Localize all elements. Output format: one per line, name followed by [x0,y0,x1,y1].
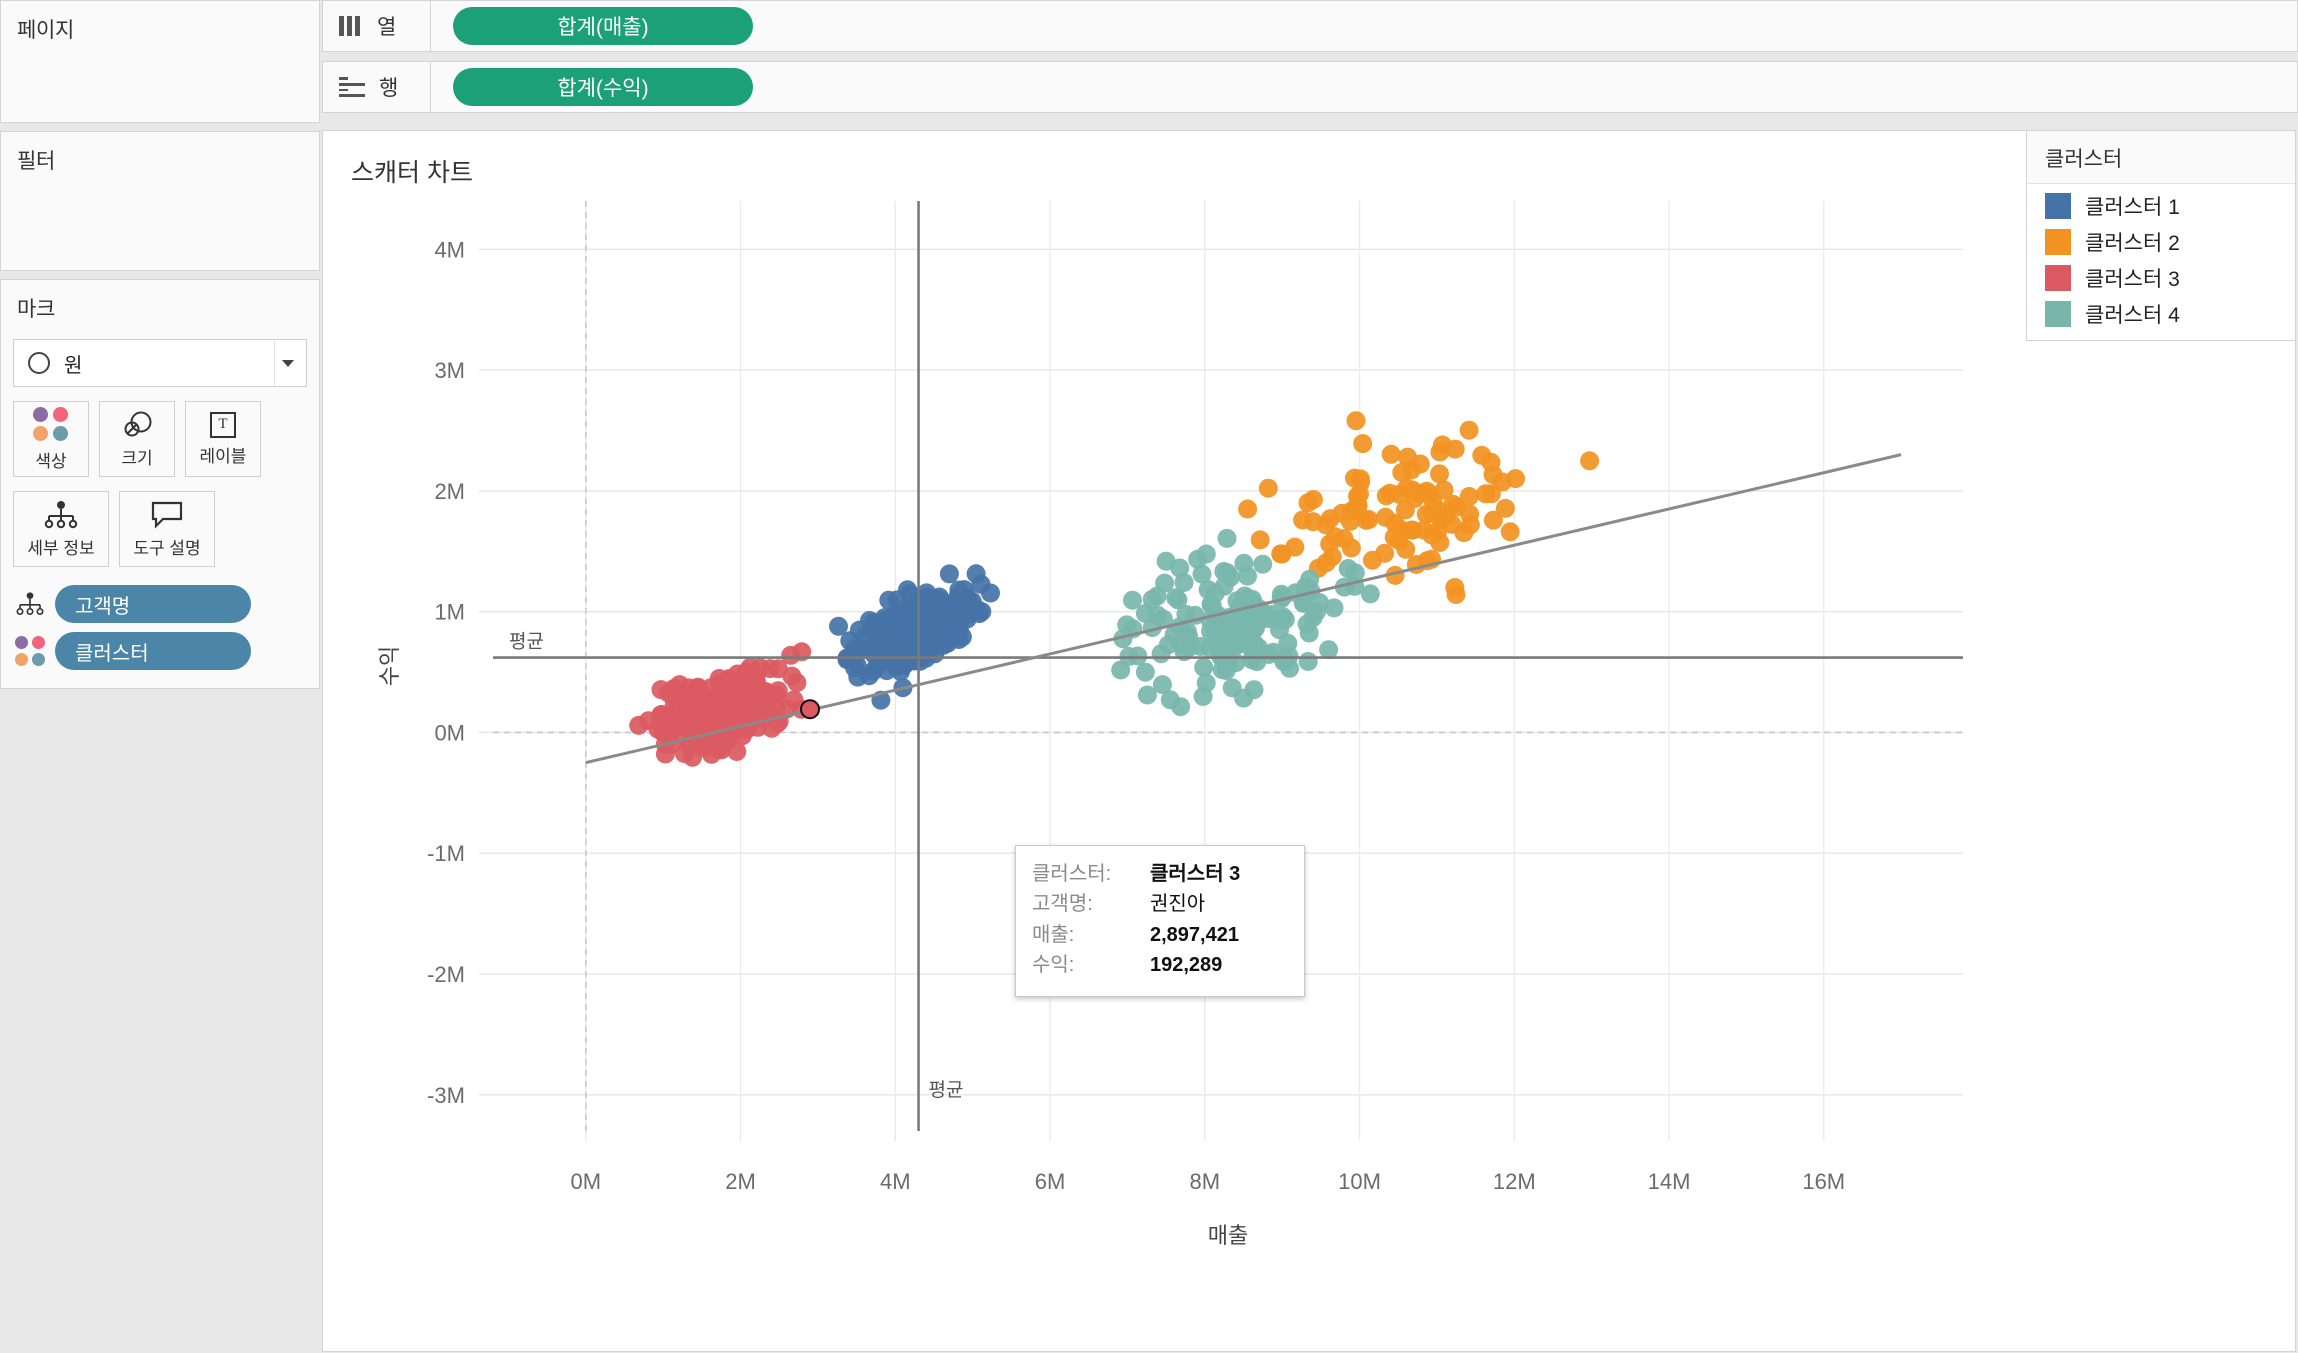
y-axis-tick-label: 1M [434,600,465,625]
marks-button-grid-row2: 세부 정보 도구 설명 [13,491,307,567]
tableau-worksheet: 페이지 필터 마크 원 색상 [0,0,2298,1352]
pill-sum-profit[interactable]: 합계(수익) [453,68,753,106]
x-axis-tick-label: 12M [1493,1169,1536,1194]
tooltip-button-label: 도구 설명 [133,534,200,559]
legend-swatch [2045,301,2071,327]
tooltip-row: 수익: 192,289 [1032,950,1288,980]
tooltip-value: 192,289 [1150,950,1222,980]
scatter-marks[interactable] [629,411,1599,767]
marks-card-title: 마크 [1,280,319,323]
legend-item-label: 클러스터 2 [2085,227,2180,257]
y-axis-tick-label: 0M [434,720,465,745]
legend-item[interactable]: 클러스터 4 [2027,296,2295,332]
legend-item[interactable]: 클러스터 1 [2027,188,2295,224]
pages-card: 페이지 [0,0,320,123]
x-axis-tick-label: 8M [1190,1169,1221,1194]
pages-card-title: 페이지 [1,1,319,44]
x-axis-tick-label: 2M [725,1169,756,1194]
detail-icon [43,500,79,530]
size-button-label: 크기 [121,444,152,469]
y-axis-tick-label: 2M [434,479,465,504]
highlighted-mark[interactable] [801,700,819,718]
worksheet-view: 스캐터 차트 4M3M2M1M0M-1M-2M-3M0M2M4M6M8M10M1… [322,130,2296,1352]
tooltip-row: 고객명: 권진아 [1032,889,1288,919]
filters-card-title: 필터 [1,132,319,175]
detail-button-label: 세부 정보 [27,534,94,559]
legend-item-label: 클러스터 1 [2085,191,2180,221]
mark-type-label: 원 [64,349,82,378]
tooltip-key: 클러스터: [1032,859,1150,889]
marks-pill-label-customer[interactable]: 고객명 [55,585,251,623]
tooltip-value: 2,897,421 [1150,920,1239,950]
legend-swatch [2045,193,2071,219]
label-button-label: 레이블 [200,442,247,467]
rows-icon [339,77,365,97]
legend-item-label: 클러스터 3 [2085,263,2180,293]
tooltip-row: 클러스터: 클러스터 3 [1032,859,1288,889]
legend-swatch [2045,229,2071,255]
marks-card: 마크 원 색상 [0,279,320,689]
reference-line-label: 평균 [509,631,544,653]
mark-type-dropdown[interactable]: 원 [13,339,307,387]
x-axis-tick-label: 4M [880,1169,911,1194]
chevron-down-icon[interactable] [274,340,300,386]
marks-button-grid-row1: 색상 크기 T 레이블 [13,401,307,477]
viz-area: 스캐터 차트 4M3M2M1M0M-1M-2M-3M0M2M4M6M8M10M1… [320,0,2298,1352]
tooltip-row: 매출: 2,897,421 [1032,920,1288,950]
y-axis-tick-label: -3M [427,1083,465,1108]
circle-icon [28,352,50,374]
columns-icon [339,16,363,36]
rows-shelf-field[interactable]: 합계(수익) [430,61,2298,113]
color-legend[interactable]: 클러스터 클러스터 1 클러스터 2 클러스터 3 클러스터 4 [2026,130,2296,341]
scatter-plot-canvas[interactable]: 4M3M2M1M0M-1M-2M-3M0M2M4M6M8M10M12M14M16… [323,131,2003,1353]
detail-icon [13,591,47,617]
tooltip-key: 고객명: [1032,889,1150,919]
tooltip-value: 클러스터 3 [1150,859,1240,889]
rows-shelf-label: 행 [379,72,398,102]
y-axis-title: 수익 [377,646,402,686]
x-axis-tick-label: 10M [1338,1169,1381,1194]
detail-button[interactable]: 세부 정보 [13,491,109,567]
label-button[interactable]: T 레이블 [185,401,261,477]
shelf-container: 열 합계(매출) 행 합계(수익) [322,0,2298,128]
x-axis-tick-label: 14M [1648,1169,1691,1194]
x-axis-title: 매출 [1208,1223,1248,1248]
legend-item-label: 클러스터 4 [2085,299,2180,329]
marks-pill-list: 고객명 클러스터 [13,585,307,670]
rows-shelf[interactable]: 행 합계(수익) [322,61,2298,113]
tooltip-icon [150,500,184,530]
color-dots-icon [33,407,69,443]
tooltip-key: 매출: [1032,920,1150,950]
size-button[interactable]: 크기 [99,401,175,477]
columns-shelf-label-box: 열 [322,0,430,52]
scatter-plot[interactable]: 4M3M2M1M0M-1M-2M-3M0M2M4M6M8M10M12M14M16… [323,131,2295,1351]
label-icon: T [210,412,236,438]
color-button[interactable]: 색상 [13,401,89,477]
size-icon [120,410,154,440]
y-axis-tick-label: 4M [434,237,465,262]
tooltip-value: 권진아 [1150,889,1205,919]
pill-sum-sales[interactable]: 합계(매출) [453,7,753,45]
left-rail: 페이지 필터 마크 원 색상 [0,0,320,1352]
columns-shelf-label: 열 [377,11,396,41]
marks-pill-color[interactable]: 클러스터 [13,632,307,670]
x-axis-tick-label: 6M [1035,1169,1066,1194]
y-axis-tick-label: -1M [427,841,465,866]
color-legend-items: 클러스터 1 클러스터 2 클러스터 3 클러스터 4 [2027,183,2295,340]
columns-shelf-field[interactable]: 합계(매출) [430,0,2298,52]
legend-swatch [2045,265,2071,291]
x-axis-tick-label: 16M [1802,1169,1845,1194]
color-legend-title: 클러스터 [2027,131,2295,183]
rows-shelf-label-box: 행 [322,61,430,113]
legend-item[interactable]: 클러스터 3 [2027,260,2295,296]
filters-card[interactable]: 필터 [0,131,320,271]
columns-shelf[interactable]: 열 합계(매출) [322,0,2298,52]
y-axis-tick-label: -2M [427,962,465,987]
x-axis-tick-label: 0M [571,1169,602,1194]
marks-pill-label-cluster[interactable]: 클러스터 [55,632,251,670]
mark-tooltip: 클러스터: 클러스터 3 고객명: 권진아 매출: 2,897,421 수익: … [1015,845,1305,997]
y-axis-tick-label: 3M [434,358,465,383]
color-button-label: 색상 [35,447,66,472]
color-dots-icon [13,636,47,666]
legend-item[interactable]: 클러스터 2 [2027,224,2295,260]
reference-line-label: 평균 [929,1079,964,1101]
marks-pill-detail[interactable]: 고객명 [13,585,307,623]
tooltip-key: 수익: [1032,950,1150,980]
tooltip-button[interactable]: 도구 설명 [119,491,215,567]
